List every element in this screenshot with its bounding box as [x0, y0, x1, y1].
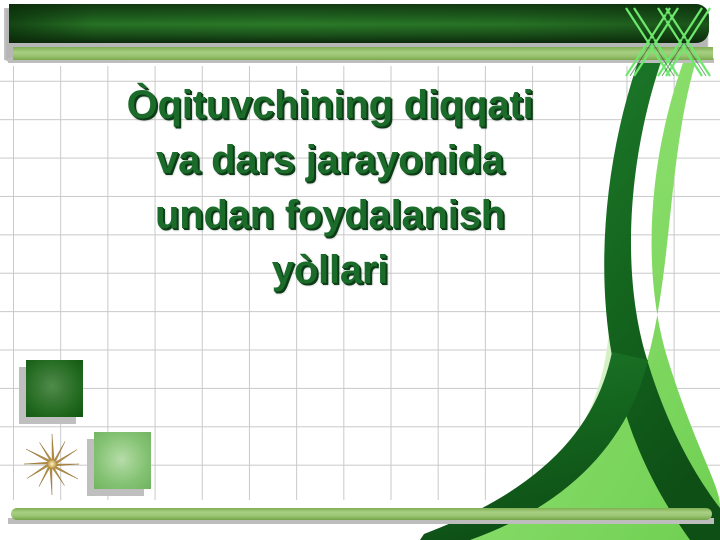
slide-canvas: Òqituvchining diqqati va dars jarayonida… — [0, 0, 720, 540]
title-line-4: yòllari — [40, 243, 620, 298]
celtic-knot-emblem — [612, 2, 716, 84]
title-line-3: undan foydalanish — [40, 188, 620, 243]
banner-accent-bar — [13, 47, 713, 60]
title-line-2: va dars jarayonida — [40, 133, 620, 188]
light-green-square — [94, 432, 151, 489]
starburst-core — [47, 459, 57, 469]
bottom-bar — [11, 508, 712, 520]
dark-green-square — [26, 360, 83, 417]
starburst-ornament — [18, 430, 86, 498]
top-banner — [9, 4, 709, 43]
title-line-1: Òqituvchining diqqati — [40, 78, 620, 133]
slide-title: Òqituvchining diqqati va dars jarayonida… — [40, 78, 620, 298]
